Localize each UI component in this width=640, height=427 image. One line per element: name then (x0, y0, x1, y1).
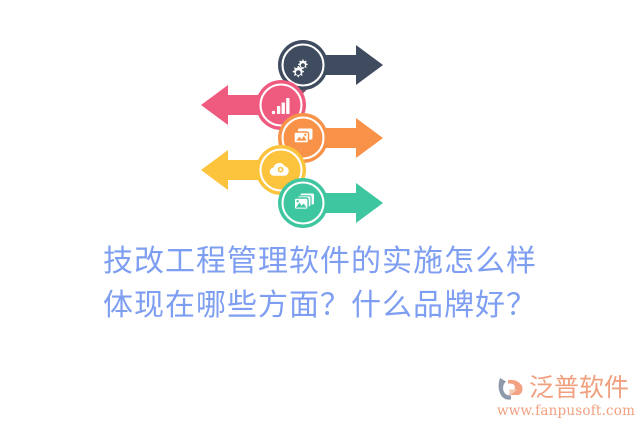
brand-row: 泛普软件 (496, 374, 629, 402)
brand-url: www.fanpusoft.com (497, 403, 635, 419)
headline-block: 技改工程管理软件的实施怎么样 体现在哪些方面？什么品牌好？ (0, 240, 640, 328)
brand-name: 泛普软件 (529, 374, 629, 402)
headline-line-1: 技改工程管理软件的实施怎么样 (0, 240, 640, 284)
arrow-chain-diagram (195, 48, 395, 238)
arrow-1-gears (278, 40, 383, 90)
fanpu-logo-icon (496, 374, 526, 402)
brand-watermark: 泛普软件 www.fanpusoft.com (496, 374, 634, 419)
arrow-5-photos (278, 178, 383, 228)
headline-line-2: 体现在哪些方面？什么品牌好？ (0, 284, 640, 328)
image-canvas: 技改工程管理软件的实施怎么样 体现在哪些方面？什么品牌好？ 泛普软件 www.f… (0, 0, 640, 427)
